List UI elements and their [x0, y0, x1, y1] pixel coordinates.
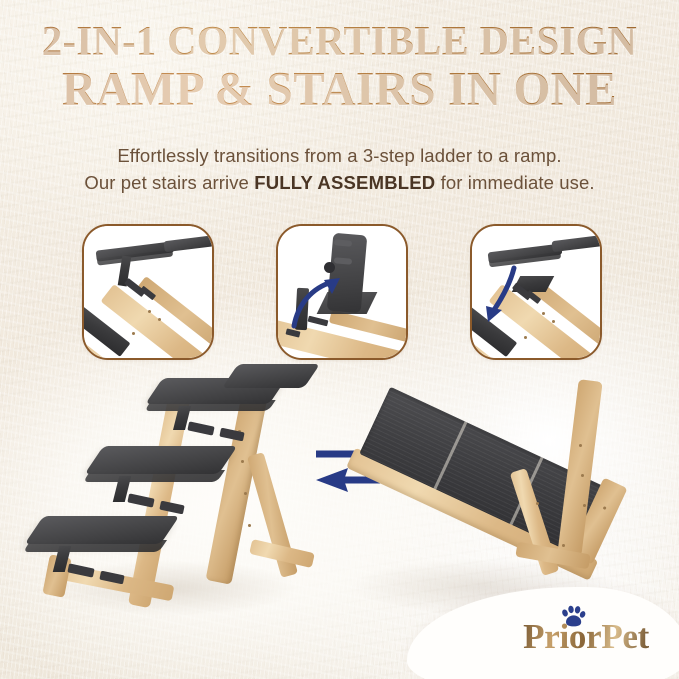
thumbnail-image-2	[278, 226, 406, 358]
subtitle-text-after: for immediate use.	[435, 172, 594, 193]
subtitle-line-1: Effortlessly transitions from a 3-step l…	[0, 143, 679, 170]
headline-block: 2-IN-1 CONVERTIBLE DESIGN RAMP & STAIRS …	[0, 22, 679, 112]
thumbnail-image-1	[84, 226, 212, 358]
thumbnail-step-detail-folded[interactable]	[82, 224, 214, 360]
product-infographic: 2-IN-1 CONVERTIBLE DESIGN RAMP & STAIRS …	[0, 0, 679, 679]
instruction-thumbnail-row	[0, 224, 679, 358]
product-pet-stairs[interactable]	[28, 360, 328, 630]
flip-up-arrow-icon	[288, 270, 358, 330]
subtitle-line-2: Our pet stairs arrive FULLY ASSEMBLED fo…	[0, 170, 679, 197]
fold-down-arrow-icon	[478, 264, 534, 330]
subtitle-emphasis: FULLY ASSEMBLED	[254, 172, 435, 193]
thumbnail-step-flip-up[interactable]	[276, 224, 408, 360]
headline-line-1: 2-IN-1 CONVERTIBLE DESIGN	[14, 22, 666, 62]
thumbnail-step-fold-down[interactable]	[470, 224, 602, 360]
headline-line-2: RAMP & STAIRS IN ONE	[14, 65, 666, 112]
thumbnail-image-3	[472, 226, 600, 358]
subtitle-block: Effortlessly transitions from a 3-step l…	[0, 143, 679, 197]
subtitle-text-before: Our pet stairs arrive	[84, 172, 254, 193]
brand-logo[interactable]: PriorPet	[523, 617, 649, 657]
